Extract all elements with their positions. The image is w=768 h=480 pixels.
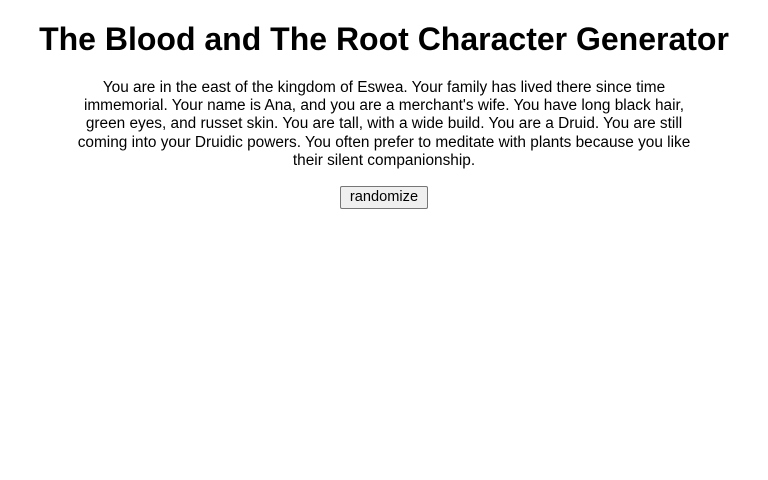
page-title: The Blood and The Root Character Generat… <box>0 20 768 58</box>
page-root: The Blood and The Root Character Generat… <box>0 0 768 480</box>
randomize-button[interactable]: randomize <box>340 186 428 209</box>
character-description: You are in the east of the kingdom of Es… <box>64 79 704 170</box>
button-row: randomize <box>0 186 768 209</box>
